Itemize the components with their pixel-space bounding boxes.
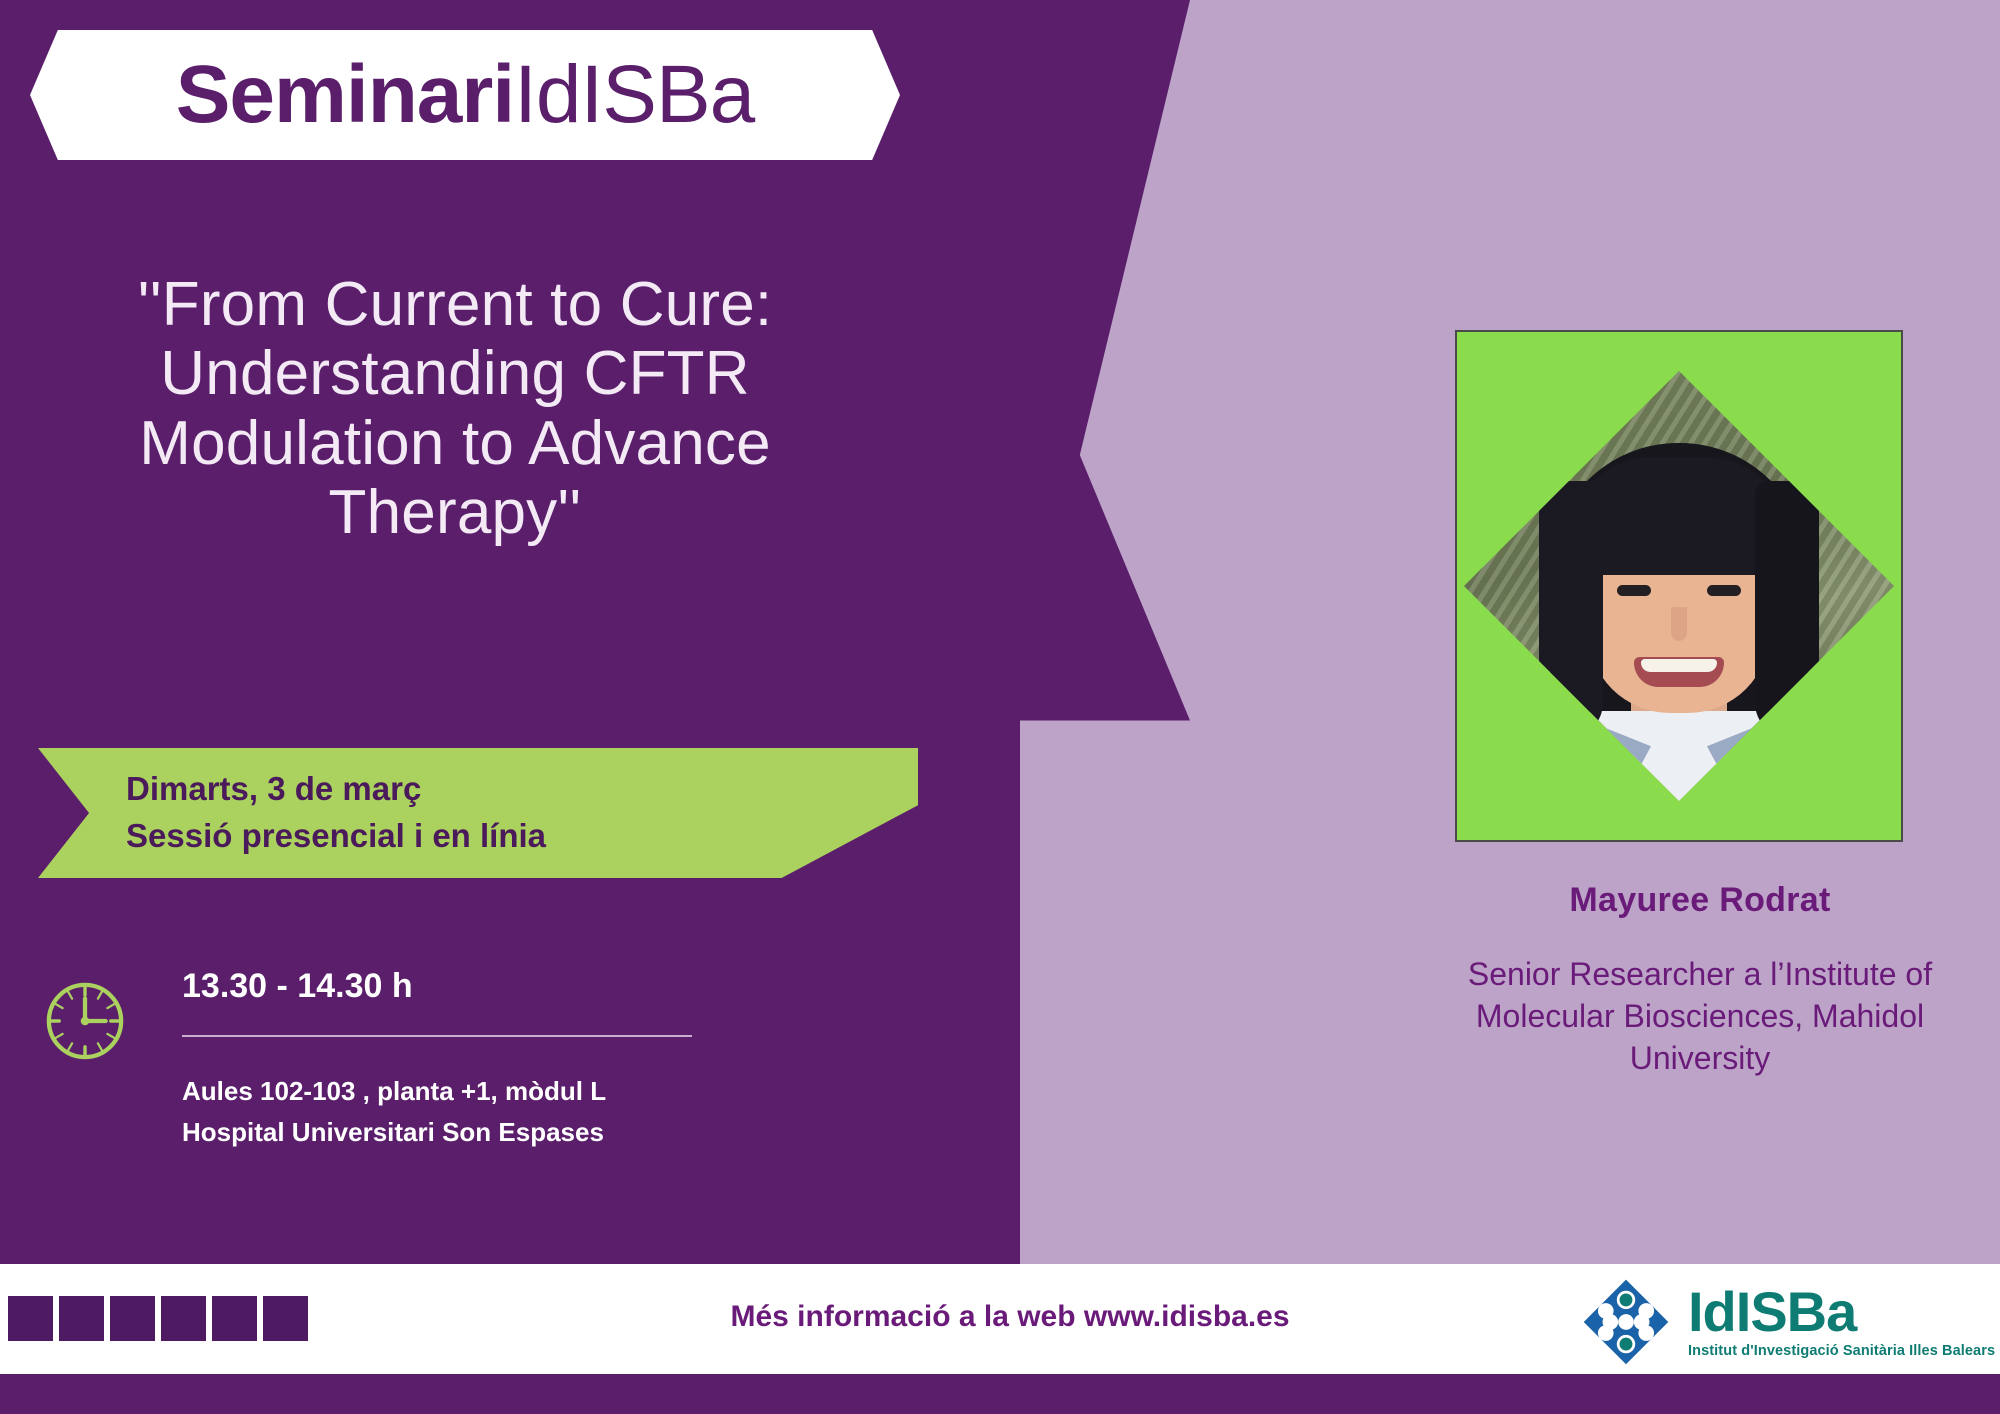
seminar-title: ''From Current to Cure: Understanding CF… — [55, 270, 855, 548]
more-info-text: Més informació a la web www.idisba.es — [640, 1300, 1380, 1334]
idisba-logo-subtitle: Institut d'Investigació Sanitària Illes … — [1688, 1343, 1995, 1359]
date-line: Dimarts, 3 de març — [126, 766, 918, 813]
event-time: 13.30 - 14.30 h — [182, 968, 692, 1005]
decor-square — [263, 1296, 308, 1341]
seminar-poster: SeminariIdISBa ''From Current to Cure: U… — [0, 0, 2000, 1414]
decorative-squares — [8, 1296, 308, 1341]
venue-room: Aules 102-103 , planta +1, mòdul L — [182, 1071, 692, 1111]
venue-block: Aules 102-103 , planta +1, mòdul L Hospi… — [182, 1071, 692, 1152]
decor-square — [161, 1296, 206, 1341]
decor-square — [110, 1296, 155, 1341]
footer-purple-strip — [0, 1374, 2000, 1414]
brand-seminari: Seminari — [176, 49, 514, 140]
event-details: 13.30 - 14.30 h Aules 102-103 , planta +… — [182, 968, 692, 1152]
speaker-name: Mayuree Rodrat — [1440, 880, 1960, 921]
decor-square — [212, 1296, 257, 1341]
decor-square — [59, 1296, 104, 1341]
speaker-portrait — [1464, 371, 1894, 801]
brand-idisba: IdISBa — [514, 49, 754, 140]
details-divider — [182, 1035, 692, 1037]
speaker-block: Mayuree Rodrat Senior Researcher a l’Ins… — [1440, 880, 1960, 1080]
idisba-logo: IdISBa Institut d'Investigació Sanitària… — [1580, 1276, 1995, 1368]
date-banner: Dimarts, 3 de març Sessió presencial i e… — [38, 748, 918, 878]
speaker-affiliation: Senior Researcher a l’Institute of Molec… — [1440, 953, 1960, 1080]
header-banner: SeminariIdISBa — [30, 30, 900, 160]
clock-icon — [42, 978, 128, 1064]
speaker-photo-frame — [1455, 330, 1903, 842]
brand-lockup: SeminariIdISBa — [176, 54, 755, 136]
idisba-logo-text: IdISBa Institut d'Investigació Sanitària… — [1688, 1285, 1995, 1360]
idisba-logo-title: IdISBa — [1688, 1285, 1995, 1340]
session-mode-line: Sessió presencial i en línia — [126, 813, 918, 860]
venue-building: Hospital Universitari Son Espases — [182, 1112, 692, 1152]
decor-square — [8, 1296, 53, 1341]
idisba-diamond-logo-icon — [1580, 1276, 1672, 1368]
